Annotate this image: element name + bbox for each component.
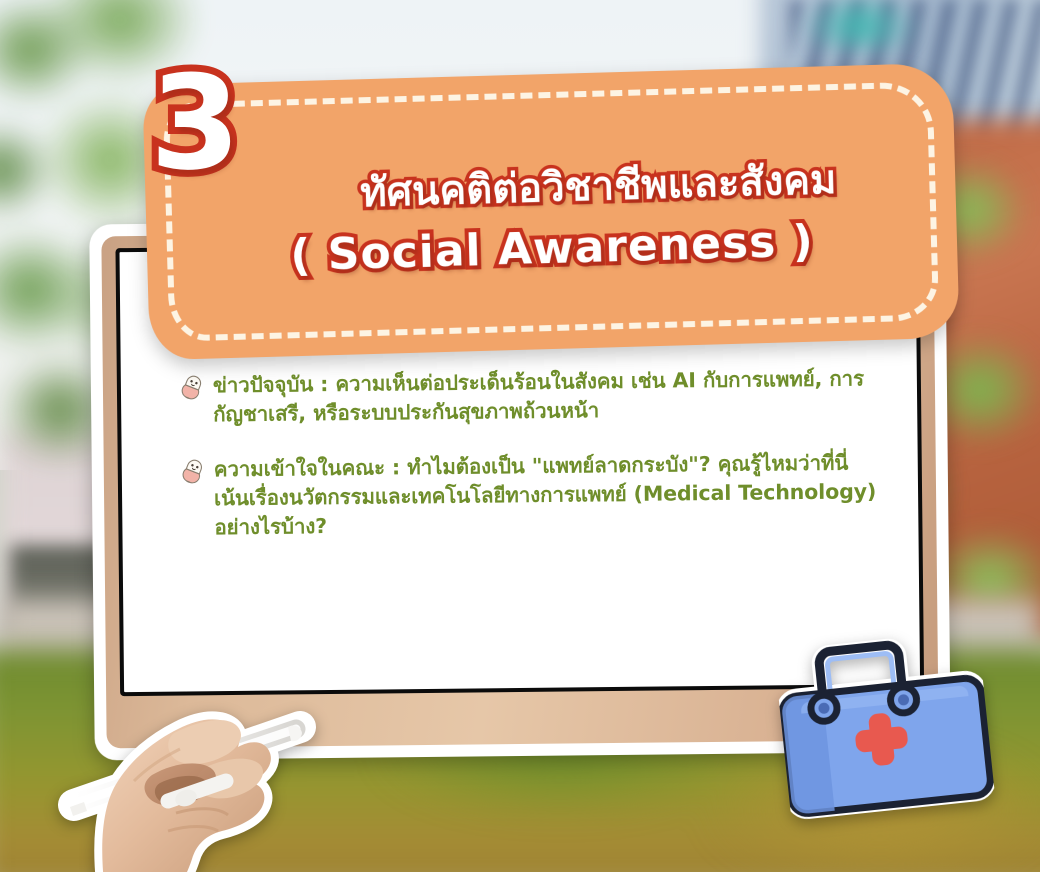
- first-aid-bag-icon: [773, 622, 996, 827]
- background-teal-accent: [800, 0, 920, 50]
- hand-holding-stylus-image: [56, 655, 356, 872]
- pill-capsule-icon: [182, 459, 204, 485]
- title-thai: ทัศนคติต่อวิชาชีพและสังคม: [360, 159, 837, 214]
- bullet-text-1: ข่าวปัจจุบัน : ความเห็นต่อประเด็นร้อนในส…: [213, 364, 882, 429]
- header-banner: ทัศนคติต่อวิชาชีพและสังคม ( Social Aware…: [142, 63, 959, 361]
- title-english: ( Social Awareness ): [290, 216, 815, 282]
- bullet-item-2: ความเข้าใจในคณะ : ทำไมต้องเป็น "แพทย์ลาด…: [182, 448, 883, 543]
- bullet-item-1: ข่าวปัจจุบัน : ความเห็นต่อประเด็นร้อนในส…: [181, 364, 882, 430]
- slide-number-badge: 3: [150, 58, 240, 188]
- slide-content: ข่าวปัจจุบัน : ความเห็นต่อประเด็นร้อนในส…: [181, 364, 883, 569]
- bullet-text-2: ความเข้าใจในคณะ : ทำไมต้องเป็น "แพทย์ลาด…: [214, 448, 883, 542]
- pill-capsule-icon: [181, 374, 203, 400]
- banner-title-group: ทัศนคติต่อวิชาชีพและสังคม ( Social Aware…: [142, 63, 959, 361]
